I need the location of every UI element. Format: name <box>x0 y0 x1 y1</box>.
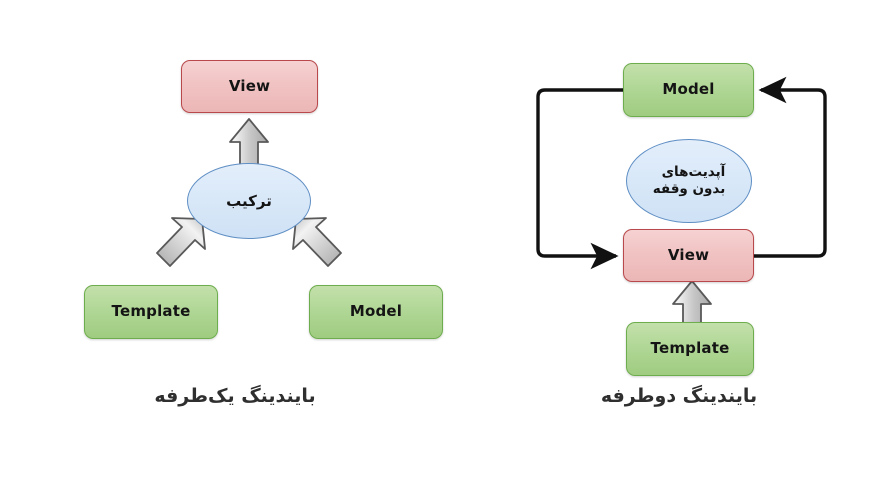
one-way-binding-caption: بایندینگ یک‌طرفه <box>0 385 470 407</box>
node-model-label: Model <box>350 303 402 320</box>
connector-model-to-view <box>538 90 623 256</box>
node-updates-label-line1: آپدیت‌های <box>662 164 726 180</box>
one-way-binding-diagram: View ترکیب Template Model بایندینگ یک‌طر… <box>0 0 470 499</box>
node-updates-label-line2: بدون وقفه <box>653 181 726 197</box>
node-view[interactable]: View <box>623 229 754 282</box>
node-view-label: View <box>668 247 709 264</box>
node-model-label: Model <box>662 81 714 98</box>
node-updates-label: آپدیت‌های بدون وقفه <box>653 164 726 198</box>
node-model[interactable]: Model <box>623 63 754 117</box>
node-updates[interactable]: آپدیت‌های بدون وقفه <box>626 139 752 223</box>
arrow-model-to-combine <box>293 218 341 266</box>
node-combine-label: ترکیب <box>226 192 272 211</box>
arrow-template-to-view <box>673 281 711 324</box>
node-view[interactable]: View <box>181 60 318 113</box>
node-template[interactable]: Template <box>84 285 218 339</box>
connector-view-to-model <box>754 90 825 256</box>
node-template[interactable]: Template <box>626 322 754 376</box>
node-combine[interactable]: ترکیب <box>187 163 311 239</box>
node-template-label: Template <box>651 340 730 357</box>
node-view-label: View <box>229 78 270 95</box>
node-model[interactable]: Model <box>309 285 443 339</box>
node-template-label: Template <box>112 303 191 320</box>
arrow-template-to-combine <box>157 218 205 266</box>
two-way-binding-caption: بایندینگ دوطرفه <box>470 385 888 407</box>
diagram-canvas: View ترکیب Template Model بایندینگ یک‌طر… <box>0 0 888 499</box>
two-way-binding-diagram: Model آپدیت‌های بدون وقفه View Template … <box>470 0 888 499</box>
